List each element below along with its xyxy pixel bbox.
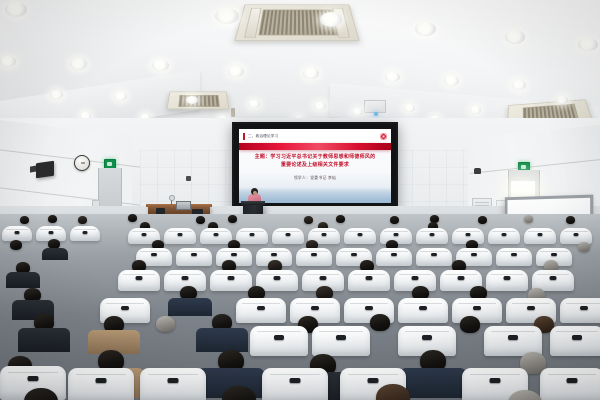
- seat-handle: [551, 253, 557, 256]
- attendee-shoulders: [18, 328, 70, 352]
- seat-handle: [142, 233, 147, 236]
- seat[interactable]: [68, 368, 134, 400]
- recessed-downlight: [0, 56, 16, 67]
- seat[interactable]: [348, 270, 390, 291]
- attendee-shoulders: [196, 328, 248, 352]
- seat[interactable]: [398, 298, 448, 323]
- attendee-shoulders: [42, 248, 68, 260]
- wall-speaker: [36, 161, 54, 179]
- seat-handle: [311, 253, 317, 256]
- seat-handle: [471, 253, 477, 256]
- attendee-shoulders: [400, 368, 466, 398]
- slide-title-line-2: 重要论述及上级相关文件要求: [239, 161, 391, 169]
- seat[interactable]: [416, 248, 452, 266]
- seat-handle: [574, 233, 579, 236]
- seat[interactable]: [200, 228, 232, 244]
- seat-handle: [502, 233, 507, 236]
- attendee: [566, 216, 575, 224]
- seat-handle: [191, 253, 197, 256]
- recessed-downlight: [578, 38, 598, 51]
- seat-handle: [168, 378, 179, 383]
- recessed-downlight: [228, 66, 244, 77]
- seat-handle: [320, 276, 327, 280]
- seat-handle: [49, 231, 54, 234]
- seat[interactable]: [560, 228, 592, 244]
- seat-handle: [511, 253, 517, 256]
- recessed-downlight: [404, 104, 415, 112]
- recessed-downlight: [444, 76, 459, 86]
- slide-presenter-line: 领学人：党委书记 李灿: [239, 176, 391, 181]
- recessed-downlight: [5, 2, 27, 17]
- seat-handle: [250, 233, 255, 236]
- seat-handle: [366, 276, 373, 280]
- seat[interactable]: [70, 226, 100, 241]
- seat-handle: [96, 378, 107, 383]
- seat-handle: [368, 378, 379, 383]
- recessed-downlight: [314, 102, 326, 110]
- seat-handle: [271, 253, 277, 256]
- seat[interactable]: [488, 228, 520, 244]
- attendee: [196, 216, 205, 224]
- seat[interactable]: [524, 228, 556, 244]
- attendee: [390, 216, 399, 224]
- seat-handle: [422, 335, 432, 340]
- seat[interactable]: [416, 228, 448, 244]
- recessed-downlight: [320, 12, 342, 27]
- ceiling-indicator-light: [374, 112, 378, 116]
- recessed-downlight: [415, 22, 436, 36]
- seat-handle: [430, 233, 435, 236]
- attendee: [336, 215, 345, 223]
- seat-handle: [490, 378, 501, 383]
- slide-header-accent: [243, 133, 245, 140]
- attendee: [304, 216, 313, 224]
- recessed-downlight: [50, 90, 63, 99]
- seat-handle: [394, 233, 399, 236]
- attendee: [524, 215, 533, 223]
- seat-handle: [412, 276, 419, 280]
- seat[interactable]: [486, 270, 528, 291]
- wall-sensor: [186, 176, 191, 181]
- seat[interactable]: [344, 228, 376, 244]
- seat-handle: [214, 233, 219, 236]
- recessed-downlight: [215, 8, 239, 24]
- seat-handle: [83, 231, 88, 234]
- ceiling-hvac-cassette: [166, 92, 229, 110]
- slide-title-line-1: 主题：学习习近平总书记关于教师思想和师德师风的: [239, 153, 391, 161]
- seat[interactable]: [164, 228, 196, 244]
- seat-handle: [311, 306, 319, 310]
- seat-handle: [572, 335, 582, 340]
- seat-handle: [182, 276, 189, 280]
- seat[interactable]: [560, 298, 600, 323]
- attendee: [370, 314, 390, 331]
- laptop[interactable]: [176, 201, 191, 210]
- seat-handle: [466, 233, 471, 236]
- seat-handle: [121, 306, 129, 310]
- seat-handle: [231, 253, 237, 256]
- presenter-face: [253, 191, 257, 195]
- seat-handle: [151, 253, 157, 256]
- seat[interactable]: [250, 326, 308, 356]
- seat-handle: [365, 306, 373, 310]
- seat[interactable]: [2, 226, 32, 241]
- seat[interactable]: [210, 270, 252, 291]
- auditorium-photo: 二、政治理论学习 主题：学习习近平总书记关于教师思想和师德师风的 重要论述及上级…: [0, 0, 600, 400]
- recessed-downlight: [186, 96, 198, 104]
- attendee: [128, 214, 137, 222]
- seat-handle: [290, 378, 301, 383]
- seat[interactable]: [296, 248, 332, 266]
- seat-handle: [550, 276, 557, 280]
- seat[interactable]: [496, 248, 532, 266]
- recessed-downlight: [385, 72, 400, 82]
- wall-clock-icon: [74, 155, 90, 171]
- slide-red-band: [239, 143, 391, 150]
- attendee: [20, 216, 29, 224]
- seat-handle: [136, 276, 143, 280]
- seat-handle: [322, 233, 327, 236]
- seat[interactable]: [176, 248, 212, 266]
- seat-handle: [228, 276, 235, 280]
- attendee: [578, 242, 590, 252]
- seat[interactable]: [140, 368, 206, 400]
- seat[interactable]: [236, 228, 268, 244]
- seat-handle: [504, 276, 511, 280]
- seat-handle: [274, 335, 284, 340]
- attendee: [478, 216, 487, 224]
- recessed-downlight: [114, 92, 127, 101]
- seat-handle: [178, 233, 183, 236]
- seat[interactable]: [540, 368, 600, 400]
- seat[interactable]: [376, 248, 412, 266]
- recessed-downlight: [352, 108, 363, 116]
- slide-surface: 二、政治理论学习 主题：学习习近平总书记关于教师思想和师德师风的 重要论述及上级…: [239, 129, 391, 203]
- recessed-downlight: [152, 60, 169, 71]
- slide-header-title: 二、政治理论学习: [248, 134, 278, 139]
- seat-handle: [274, 276, 281, 280]
- seat-handle: [391, 253, 397, 256]
- seat-handle: [257, 306, 265, 310]
- party-emblem-logo-icon: [380, 133, 387, 140]
- recessed-downlight: [248, 100, 260, 108]
- attendee: [156, 316, 175, 332]
- seat-handle: [286, 233, 291, 236]
- attendee: [228, 215, 237, 223]
- hvac-grille: [179, 95, 220, 108]
- seat-handle: [15, 231, 20, 234]
- podium-top: [241, 201, 265, 205]
- seat-handle: [527, 306, 535, 310]
- seat-handle: [508, 335, 518, 340]
- audience-seating: [0, 214, 600, 400]
- seat[interactable]: [550, 326, 600, 356]
- seat[interactable]: [118, 270, 160, 291]
- slide-body: 主题：学习习近平总书记关于教师思想和师德师风的 重要论述及上级相关文件要求 领学…: [239, 153, 391, 181]
- attendee-shoulders: [6, 272, 40, 288]
- seat-handle: [336, 335, 346, 340]
- recessed-downlight: [512, 80, 526, 90]
- wall-camera-icon: [474, 168, 481, 174]
- recessed-downlight: [556, 96, 568, 104]
- seat-handle: [431, 253, 437, 256]
- attendee: [48, 215, 57, 223]
- microphone-icon: [169, 195, 175, 201]
- attendee: [460, 316, 480, 333]
- seat-handle: [419, 306, 427, 310]
- recessed-downlight: [70, 58, 87, 70]
- attendee: [78, 216, 87, 224]
- seat[interactable]: [262, 368, 328, 400]
- recessed-downlight: [470, 106, 481, 114]
- seat-handle: [458, 276, 465, 280]
- seat[interactable]: [312, 326, 370, 356]
- attendee-shoulders: [168, 298, 212, 316]
- seat-handle: [351, 253, 357, 256]
- seat-handle: [473, 306, 481, 310]
- slide-header: 二、政治理论学习: [239, 129, 391, 144]
- recessed-downlight: [303, 68, 319, 79]
- seat-handle: [580, 306, 588, 310]
- recessed-downlight: [505, 30, 525, 44]
- seat[interactable]: [236, 298, 286, 323]
- seat-handle: [28, 376, 39, 381]
- seat-handle: [358, 233, 363, 236]
- seat-handle: [567, 378, 578, 383]
- seat[interactable]: [272, 228, 304, 244]
- ceiling-sprinkler: [231, 108, 235, 117]
- attendee: [10, 240, 22, 250]
- seat-handle: [538, 233, 543, 236]
